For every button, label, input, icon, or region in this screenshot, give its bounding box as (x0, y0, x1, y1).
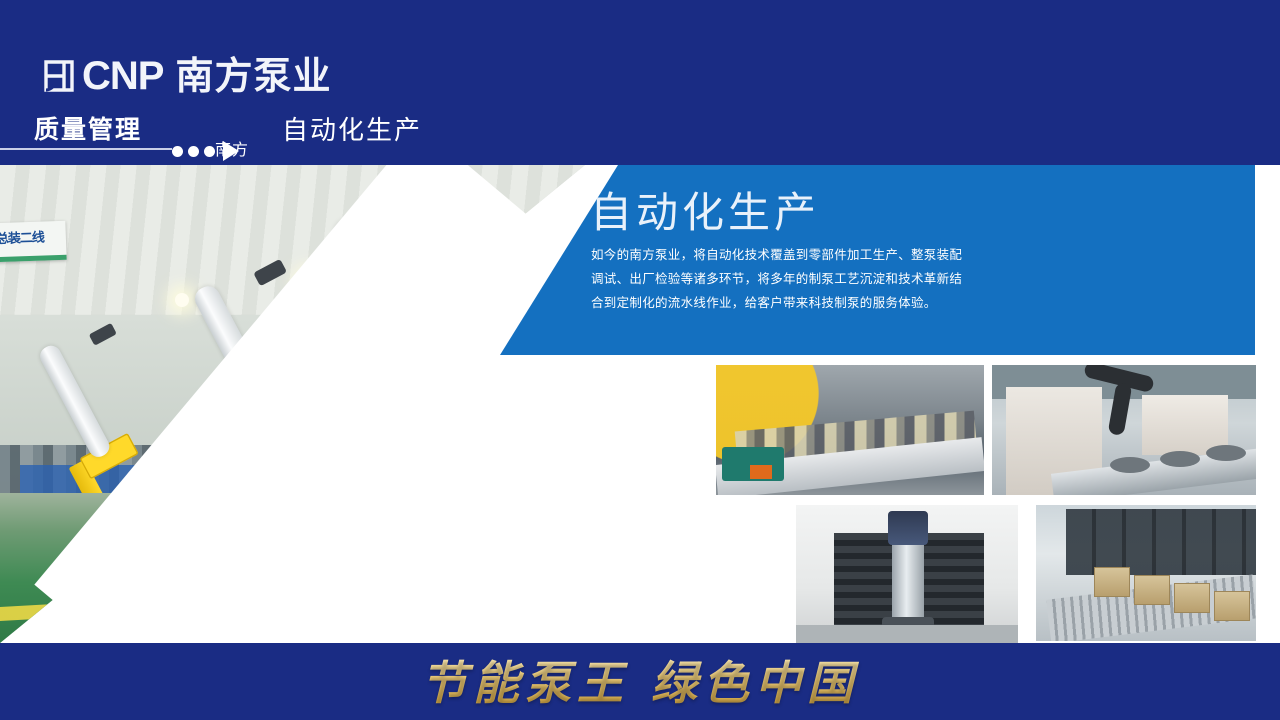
gallery-photo-robot-conveyor: 机器人自动上下料输送线 (992, 365, 1256, 495)
breadcrumb-sub[interactable]: 南方 (215, 136, 249, 160)
gallery-photo-packaging-line: 成品包装输送线 (1036, 505, 1256, 641)
logo-latin-text: CNP (82, 56, 163, 96)
footer-bar: 节能泵王 绿色中国 (0, 643, 1280, 720)
gallery-photo-parts-line-image (716, 365, 984, 495)
gallery-photo-pump-test: 整泵装配调试工位 (796, 505, 1018, 643)
test-bench (796, 625, 1018, 643)
footer-slogan: 节能泵王 绿色中国 (0, 647, 1280, 713)
workshop-line-sign: 总装二线 (0, 221, 67, 262)
carton-3 (1174, 583, 1210, 613)
dot-3 (204, 146, 215, 157)
workpiece-disc-3 (1206, 445, 1246, 461)
photo-gallery: 零部件加工生产线 机器人自动上下料输送线 (716, 365, 1256, 643)
info-panel: 自动化生产 如今的南方泵业，将自动化技术覆盖到零部件加工生产、整泵装配 调试、出… (500, 165, 1255, 355)
panel-paragraph-line-2: 调试、出厂检验等诸多环节，将多年的制泵工艺沉淀和技术革新结 (591, 267, 1001, 291)
orange-marker (750, 465, 772, 479)
panel-paragraph-line-1: 如今的南方泵业，将自动化技术覆盖到零部件加工生产、整泵装配 (591, 243, 1001, 267)
content-stage: 总装二线 (0, 165, 1280, 643)
breadcrumb-section[interactable]: 质量管理 (34, 110, 142, 146)
carton-4 (1214, 591, 1250, 621)
gallery-photo-parts-line: 零部件加工生产线 (716, 365, 984, 495)
carton-1 (1094, 567, 1130, 597)
panel-title: 自动化生产 (590, 179, 820, 240)
slide-root: CNP 南方泵业 质量管理 南方 自动化生产 (0, 0, 1280, 720)
gallery-photo-pump-test-image (796, 505, 1018, 643)
gallery-photo-packaging-line-image (1036, 505, 1256, 641)
cnp-monogram-icon (42, 59, 76, 93)
breadcrumb-rule (0, 148, 172, 150)
workshop-line-sign-text: 总装二线 (0, 221, 66, 247)
workpiece-disc-1 (1110, 457, 1150, 473)
arm-base (400, 614, 550, 643)
dot-2 (188, 146, 199, 157)
workpiece-disc-2 (1160, 451, 1200, 467)
dot-1 (172, 146, 183, 157)
pump-motor (888, 511, 928, 545)
brand-logo[interactable]: CNP 南方泵业 (42, 53, 331, 99)
header-bar: CNP 南方泵业 质量管理 南方 自动化生产 (0, 0, 1280, 165)
breadcrumb-page-title: 自动化生产 (282, 110, 422, 147)
panel-paragraph-line-3: 合到定制化的流水线作业，给客户带来科技制泵的服务体验。 (591, 291, 1001, 315)
glass-partition (1066, 509, 1256, 575)
ceiling-lamp-1 (175, 293, 189, 307)
panel-paragraph: 如今的南方泵业，将自动化技术覆盖到零部件加工生产、整泵装配 调试、出厂检验等诸多… (591, 243, 1001, 315)
logo-chinese-text: 南方泵业 (175, 56, 331, 96)
gallery-photo-robot-conveyor-image (992, 365, 1256, 495)
carton-2 (1134, 575, 1170, 605)
